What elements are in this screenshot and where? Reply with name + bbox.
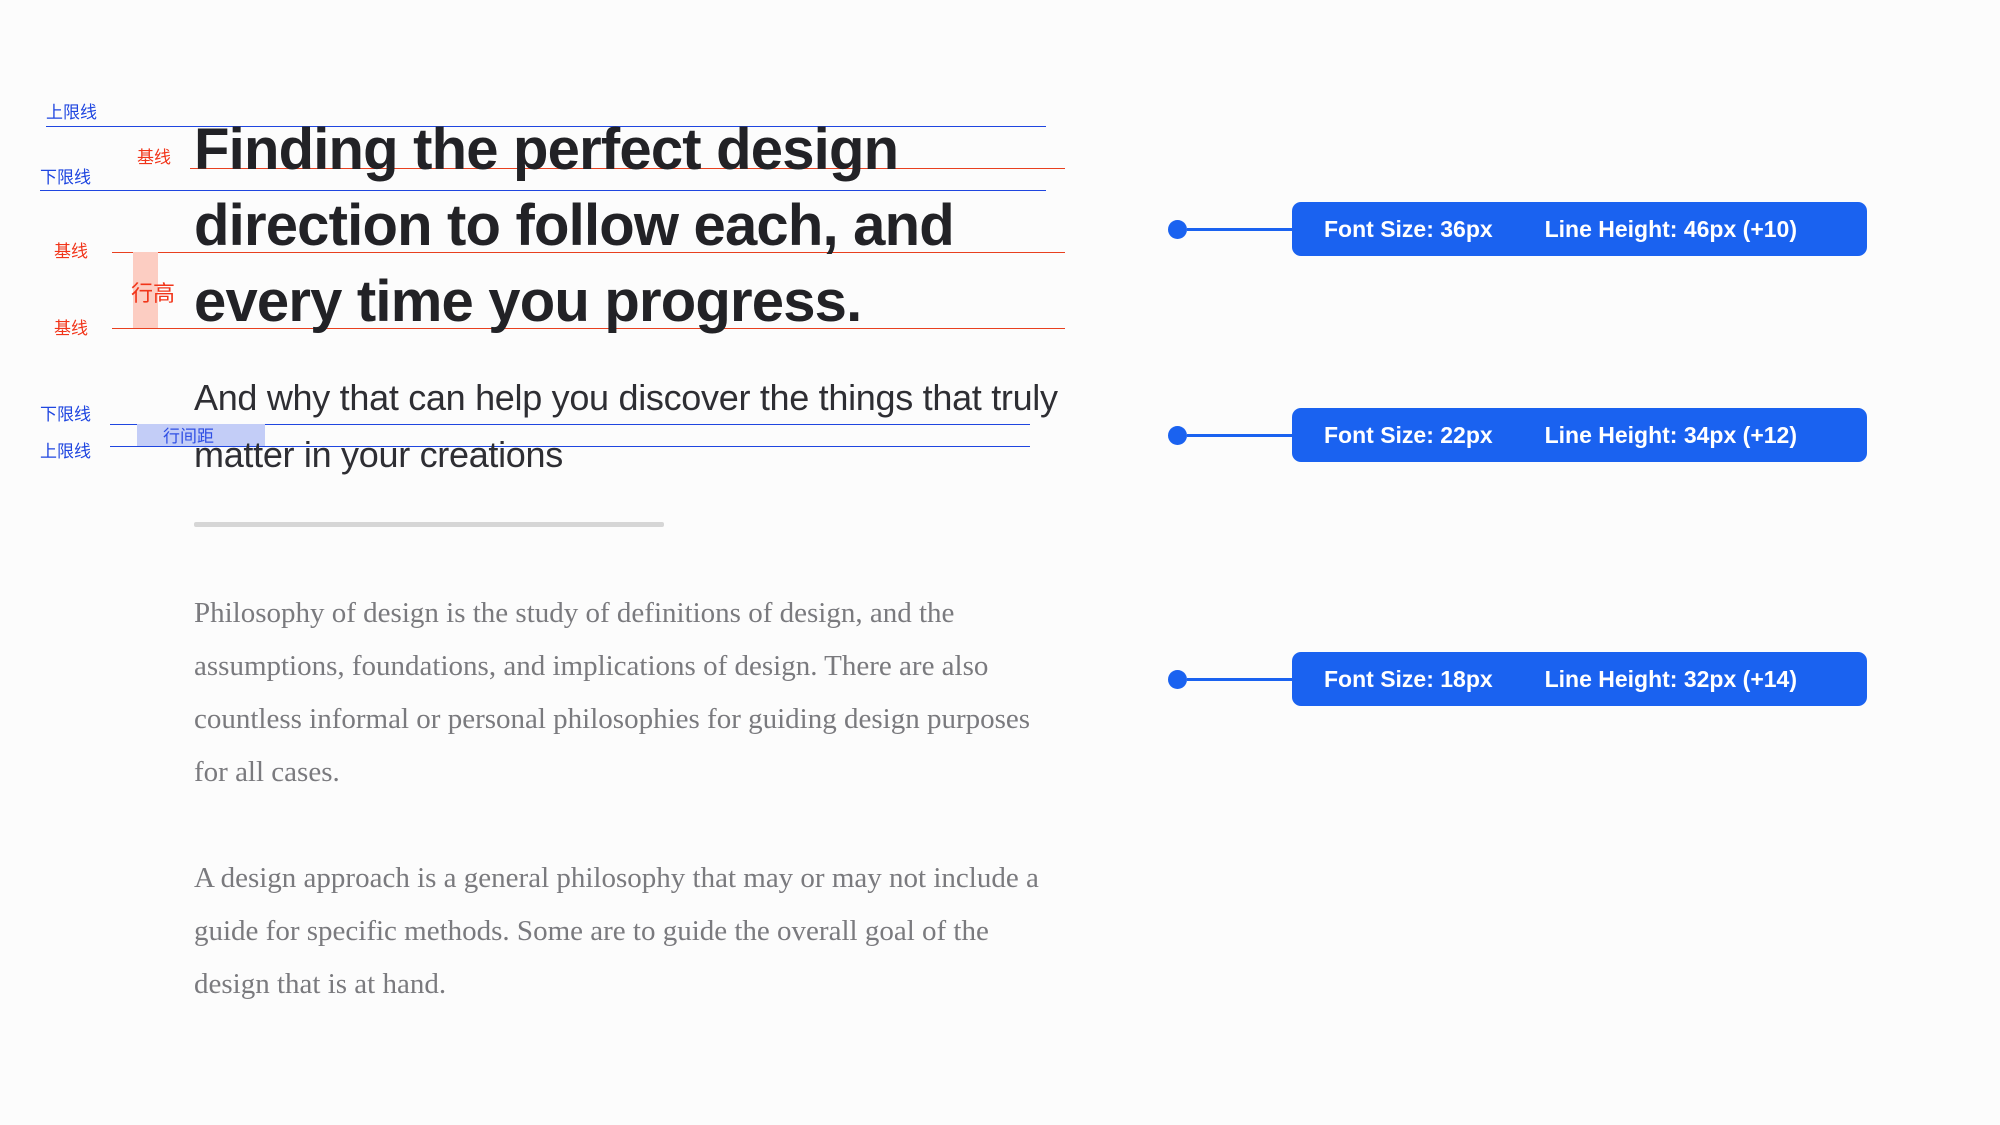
body-paragraph-2: A design approach is a general philosoph… xyxy=(194,852,1044,1011)
callout-font-size-label: Font Size: 36px xyxy=(1324,216,1493,243)
page-subheading: And why that can help you discover the t… xyxy=(194,369,1074,483)
page-heading: Finding the perfect design direction to … xyxy=(194,112,1074,340)
line-height-band-label: 行高 xyxy=(131,283,175,305)
body-paragraph-1: Philosophy of design is the study of def… xyxy=(194,587,1044,799)
typography-spec-canvas: 上限线 基线 下限线 基线 行高 基线 下限线 行间距 上限线 Finding … xyxy=(0,0,2000,1125)
guide-label-baseline-h3: 基线 xyxy=(54,320,88,337)
callout-font-size-label: Font Size: 22px xyxy=(1324,422,1493,449)
guide-label-baseline-h1: 基线 xyxy=(137,149,171,166)
callout-line-height-label: Line Height: 32px (+14) xyxy=(1545,666,1835,693)
callout-dot-icon xyxy=(1168,426,1187,445)
callout-dot-icon xyxy=(1168,670,1187,689)
guide-label-cap-sub: 上限线 xyxy=(40,443,91,460)
callout-subheading[interactable]: Font Size: 22px Line Height: 34px (+12) xyxy=(1168,408,1867,462)
guide-label-descender-sub: 下限线 xyxy=(40,406,91,423)
callout-badge-heading[interactable]: Font Size: 36px Line Height: 46px (+10) xyxy=(1292,202,1867,256)
guide-label-cap-line-top: 上限线 xyxy=(46,104,97,121)
callout-connector-line xyxy=(1187,434,1292,437)
callout-line-height-label: Line Height: 34px (+12) xyxy=(1545,422,1835,449)
callout-line-height-label: Line Height: 46px (+10) xyxy=(1545,216,1835,243)
guide-label-descender-h1: 下限线 xyxy=(40,169,91,186)
callout-dot-icon xyxy=(1168,220,1187,239)
callout-body[interactable]: Font Size: 18px Line Height: 32px (+14) xyxy=(1168,652,1867,706)
guide-label-baseline-h2: 基线 xyxy=(54,243,88,260)
callout-badge-body[interactable]: Font Size: 18px Line Height: 32px (+14) xyxy=(1292,652,1867,706)
callout-heading[interactable]: Font Size: 36px Line Height: 46px (+10) xyxy=(1168,202,1867,256)
callout-connector-line xyxy=(1187,678,1292,681)
callout-connector-line xyxy=(1187,228,1292,231)
callout-badge-subheading[interactable]: Font Size: 22px Line Height: 34px (+12) xyxy=(1292,408,1867,462)
section-divider xyxy=(194,522,664,527)
callout-font-size-label: Font Size: 18px xyxy=(1324,666,1493,693)
